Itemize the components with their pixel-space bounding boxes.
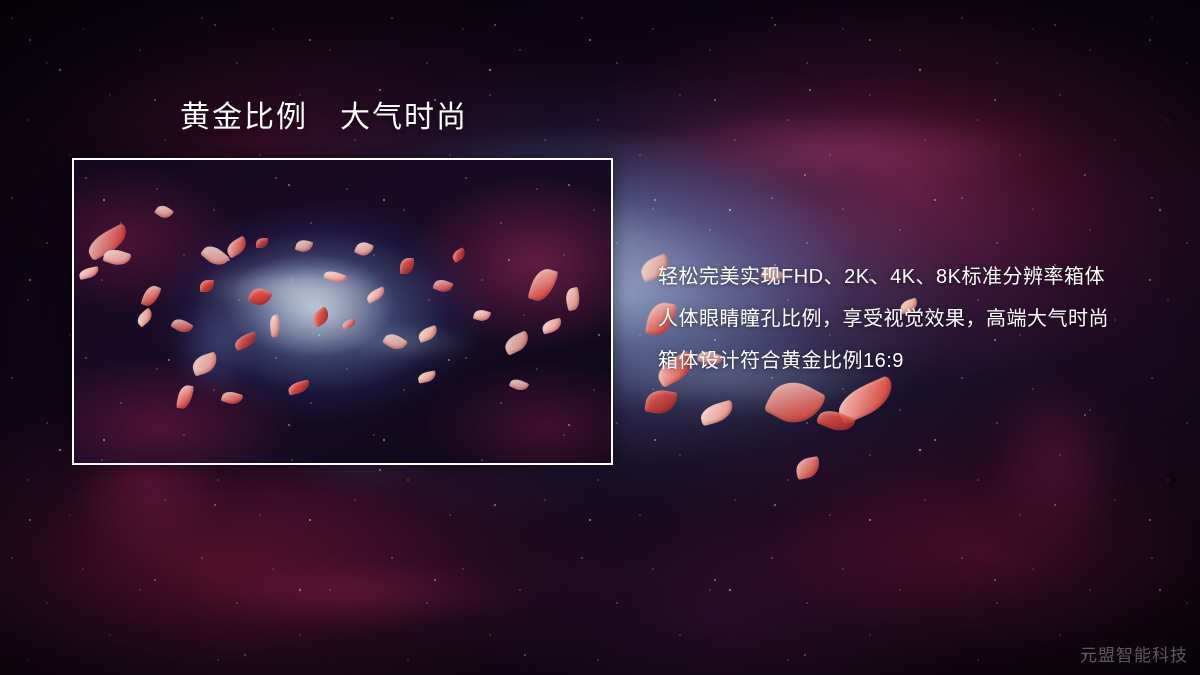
slide-canvas: 黄金比例 大气时尚 轻松完美实现FHD、2K、4K、8K标准分辨率箱体 人体眼睛… (0, 0, 1200, 675)
description-line-2: 人体眼睛瞳孔比例，享受视觉效果，高端大气时尚 (658, 298, 1178, 340)
watermark: 元盟智能科技 (1080, 641, 1188, 666)
description-line-1: 轻松完美实现FHD、2K、4K、8K标准分辨率箱体 (658, 256, 1178, 298)
page-title: 黄金比例 大气时尚 (180, 101, 468, 134)
framed-photo[interactable] (72, 158, 613, 465)
photo-nebula-filaments (74, 160, 611, 463)
description-line-3: 箱体设计符合黄金比例16:9 (658, 340, 1178, 382)
description-text-block: 轻松完美实现FHD、2K、4K、8K标准分辨率箱体 人体眼睛瞳孔比例，享受视觉效… (658, 256, 1178, 382)
